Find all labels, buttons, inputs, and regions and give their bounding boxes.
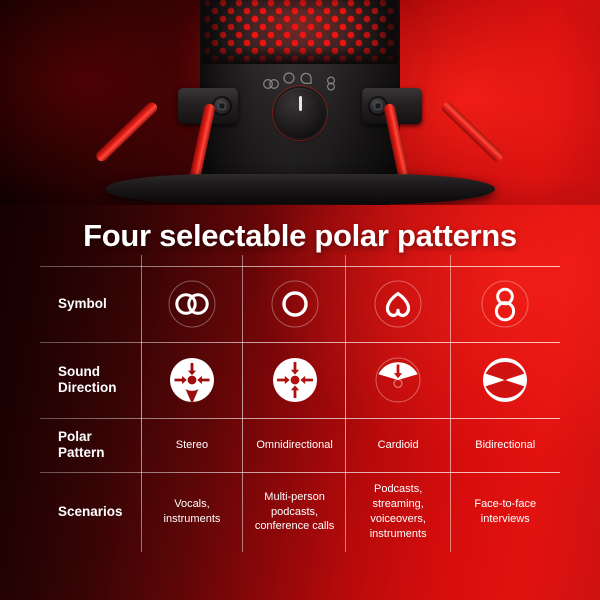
table-row-sound-direction: Sound Direction [40,342,560,418]
scenario-line: conference calls [255,520,335,532]
row-label-polar-pattern: Polar Pattern [40,418,141,472]
scenario-line: interviews [481,513,530,525]
two-overlapping-rings-icon [167,279,217,329]
row-label-scenarios: Scenarios [40,472,141,552]
cardioid-sound-direction-icon [374,356,422,404]
page-title: Four selectable polar patterns [0,218,600,254]
mic-pattern-knob[interactable] [275,88,325,138]
omnidirectional-icon [284,73,294,83]
figure-eight-icon [480,279,530,329]
scenario-line: voiceovers, [370,513,426,525]
row-label-sound-direction: Sound Direction [40,342,141,418]
bidirectional-sound-direction-icon [481,356,529,404]
mount-screw-left-icon [212,96,232,116]
grille-vignette [202,0,398,64]
single-ring-icon [270,279,320,329]
direction-cell-bidirectional [450,342,560,418]
cardioid-icon [301,73,311,83]
polar-pattern-cell-omnidirectional: Omnidirectional [243,418,346,472]
scenario-line: instruments [164,513,221,525]
polar-pattern-cell-stereo: Stereo [141,418,244,472]
scenario-line: Vocals, [174,498,209,510]
row-label-line-1: Polar [58,429,92,444]
direction-cell-stereo [141,342,244,418]
knob-led-ring [272,85,328,141]
scenario-line: streaming, [372,498,423,510]
heart-outline-icon [373,279,423,329]
scenarios-cell-stereo: Vocals, instruments [141,472,244,552]
direction-cell-cardioid [346,342,451,418]
table-divider-horizontal [40,472,560,473]
symbol-cell-omnidirectional [243,266,346,342]
bidirectional-icon [328,77,335,90]
table-row-symbol: Symbol [40,266,560,342]
scenario-line: Face-to-face [474,498,536,510]
symbol-cell-bidirectional [450,266,560,342]
table-row-scenarios: Scenarios Vocals, instruments Multi-pers… [40,472,560,552]
scenario-line: podcasts, [271,506,318,518]
knob-indicator-mark [299,96,302,111]
scenarios-cell-omnidirectional: Multi-person podcasts, conference calls [243,472,346,552]
table-divider-vertical [450,255,451,552]
hero-product-image [0,0,600,205]
polar-pattern-cell-bidirectional: Bidirectional [450,418,560,472]
scenario-line: Podcasts, [374,483,422,495]
table-divider-horizontal [40,266,560,267]
table-divider-horizontal [40,342,560,343]
table-divider-vertical [141,255,142,552]
table-row-polar-pattern: Polar Pattern Stereo Omnidirectional Car… [40,418,560,472]
hero-bottom-fade [0,159,600,205]
microphone-grille [202,0,398,64]
polar-pattern-cell-cardioid: Cardioid [346,418,451,472]
scenario-line: Multi-person [264,491,325,503]
symbol-cell-cardioid [346,266,451,342]
row-label-symbol: Symbol [40,266,141,342]
table-divider-vertical [345,255,346,552]
polar-pattern-comparison-table: Symbol [40,266,560,552]
row-label-line-1: Sound [58,364,100,379]
table-divider-vertical [242,255,243,552]
promo-page: Four selectable polar patterns Symbol [0,0,600,600]
row-label-line-2: Direction [58,380,117,395]
stereo-sound-direction-icon [168,356,216,404]
stereo-icon [264,80,279,89]
direction-cell-omnidirectional [243,342,346,418]
row-label-line-2: Pattern [58,445,105,460]
symbol-cell-stereo [141,266,244,342]
scenario-line: instruments [370,528,427,540]
scenarios-cell-bidirectional: Face-to-face interviews [450,472,560,552]
omnidirectional-sound-direction-icon [271,356,319,404]
scenarios-cell-cardioid: Podcasts, streaming, voiceovers, instrum… [346,472,451,552]
table-divider-horizontal [40,418,560,419]
